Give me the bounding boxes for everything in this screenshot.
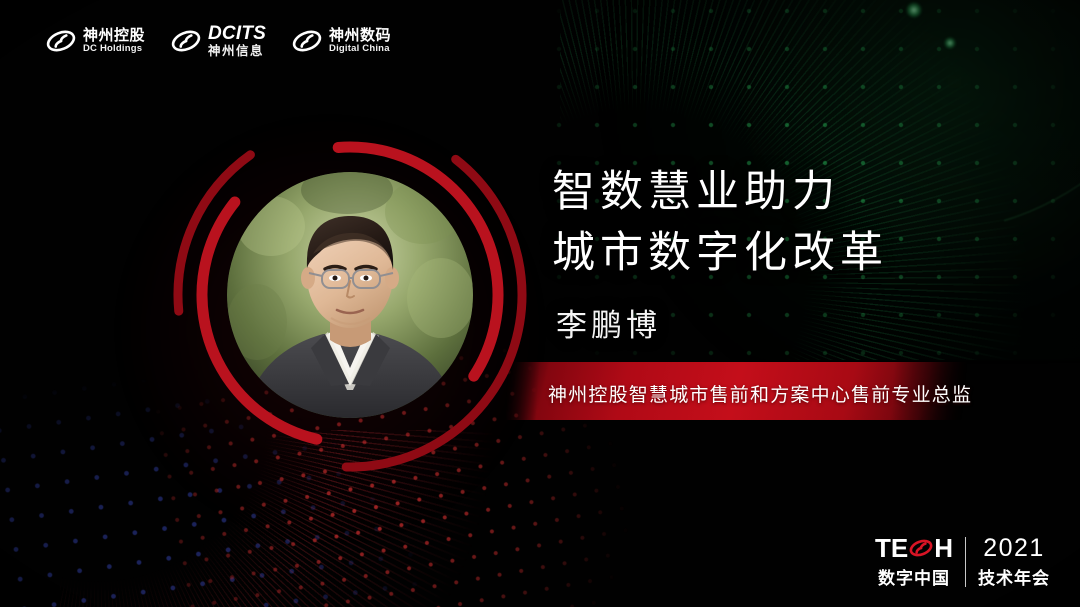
speaker-title-slide: 神州控股 DC Holdings DCITS 神州信息 (0, 0, 1080, 607)
brand-name-en: Digital China (329, 44, 391, 54)
event-logo-tech-subtitle: 数字中国 (878, 564, 950, 589)
green-streak-highlight (906, 2, 922, 18)
c-swoosh-icon (909, 536, 933, 560)
brand-logo-text: 神州控股 DC Holdings (83, 28, 145, 55)
swirl-icon (46, 29, 76, 53)
brand-name-cn: 神州控股 (83, 28, 145, 44)
brand-logo-dc-holdings: 神州控股 DC Holdings (46, 28, 145, 55)
brand-logo-dcits: DCITS 神州信息 (171, 24, 266, 58)
slide-title: 智数慧业助力 城市数字化改革 (552, 162, 888, 284)
background-art (0, 0, 1080, 607)
tech-letters-left: TE (875, 535, 908, 561)
speaker-portrait-frame (185, 130, 515, 460)
brand-logo-digital-china: 神州数码 Digital China (292, 28, 391, 55)
speaker-name: 李鹏博 (556, 300, 661, 345)
speaker-portrait-photo (227, 172, 473, 418)
title-line-2: 城市数字化改革 (552, 223, 888, 284)
event-logo-year-column: 2021 技术年会 (966, 535, 1062, 589)
swirl-icon (171, 29, 201, 53)
title-line-1: 智数慧业助力 (552, 162, 888, 223)
event-logo-tech-wordmark: TE H (875, 535, 953, 561)
brand-name-en: DC Holdings (83, 44, 145, 54)
vignette-overlay (0, 0, 1080, 607)
speaker-role-text: 神州控股智慧城市售前和方案中心售前专业总监 (548, 380, 1008, 407)
event-logo: TE H 数字中国 2021 技术年会 (863, 535, 1062, 589)
event-logo-tech-column: TE H 数字中国 (863, 535, 965, 589)
green-streak-highlight-secondary (944, 37, 956, 49)
brand-logo-text: 神州数码 Digital China (329, 28, 391, 55)
brand-logo-text: DCITS 神州信息 (208, 24, 266, 58)
brand-name-cn-sub: 神州信息 (208, 45, 266, 58)
brand-logo-bar: 神州控股 DC Holdings DCITS 神州信息 (46, 24, 391, 58)
brand-name-latin: DCITS (208, 24, 266, 44)
tech-letters-right: H (934, 535, 953, 561)
event-logo-year: 2021 (983, 536, 1045, 561)
swirl-icon (292, 29, 322, 53)
event-logo-year-subtitle: 技术年会 (978, 564, 1050, 589)
brand-name-cn: 神州数码 (329, 28, 391, 44)
